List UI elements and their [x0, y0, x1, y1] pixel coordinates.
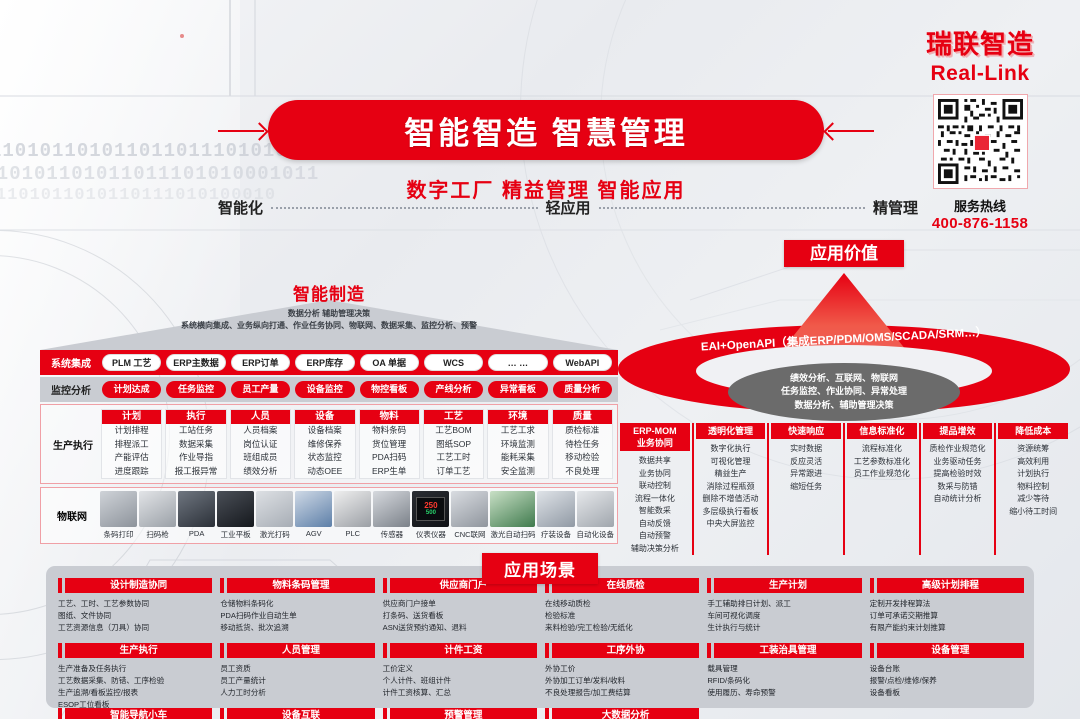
- system-integration-chip[interactable]: WebAPI: [553, 354, 612, 371]
- im-roof-line1: 数据分析 辅助管理决策: [40, 308, 618, 320]
- production-column: 质量质检标准待检任务移动检验不良处理: [552, 409, 613, 479]
- rail-node-0: 智能化: [218, 197, 263, 218]
- hotline-label: 服务热线: [894, 196, 1066, 215]
- scenario-accent-bar: [870, 578, 874, 593]
- value-column-header: 降低成本: [998, 423, 1068, 439]
- iot-item[interactable]: 传感器: [373, 491, 410, 540]
- production-column-header: 质量: [553, 410, 612, 424]
- scenario-card-header: 工序外协: [545, 643, 699, 658]
- value-item: 自动反馈: [620, 518, 690, 531]
- production-column: 计划计划排程排程派工产能评估进度跟踪: [101, 409, 162, 479]
- scenario-item: 打条码、送货看板: [383, 610, 537, 622]
- production-cell[interactable]: 计划排程: [102, 424, 161, 438]
- system-integration-chip[interactable]: ERP库存: [295, 354, 354, 371]
- production-cell[interactable]: 工站任务: [166, 424, 225, 438]
- iot-row: 物联网 条码打印扫码枪PDA工业平板激光打码AGVPLC传感器250500仪表仪…: [40, 487, 618, 544]
- iot-caption: 条码打印: [100, 529, 137, 540]
- core-capability-ellipse: 绩效分析、互联网、物联网 任务监控、作业协同、异常处理 数据分析、辅助管理决策: [728, 363, 960, 421]
- scenario-item: 仓储物料条码化: [220, 598, 374, 610]
- production-column-header: 设备: [295, 410, 354, 424]
- scenario-item: 设备台账: [870, 663, 1024, 675]
- scenario-item: 个人计件、班组计件: [383, 675, 537, 687]
- production-column-header: 计划: [102, 410, 161, 424]
- value-column: 快速响应实时数据反应灵活异常跟进缩短任务: [767, 423, 843, 555]
- production-cell[interactable]: 安全监测: [488, 465, 547, 479]
- scenario-item: 生计执行与统计: [707, 622, 861, 634]
- scenario-card[interactable]: 设计制造协同工艺、工时、工艺参数协同图纸、文件协同工艺资源信息（刀具）协同: [56, 578, 212, 639]
- iot-caption: 扫码枪: [139, 529, 176, 540]
- page-header: 智能智造 智慧管理 数字工厂 精益管理 智能应用: [216, 100, 876, 203]
- iot-caption: 疗装设备: [537, 529, 574, 540]
- scenario-card-header: 预警管理: [383, 708, 537, 719]
- value-column: 透明化管理数字化执行可视化管理精益生产消除过程瓶颈删除不增值活动多层级执行看板中…: [692, 423, 768, 555]
- iot-caption: 工业平板: [217, 529, 254, 540]
- production-cell[interactable]: 动态OEE: [295, 465, 354, 479]
- scenario-accent-bar: [383, 578, 387, 593]
- system-integration-chip[interactable]: PLM 工艺: [102, 354, 161, 371]
- production-cell[interactable]: 状态监控: [295, 451, 354, 465]
- monitoring-row: 监控分析 计划达成任务监控员工产量设备监控物控看板产线分析异常看板质量分析: [40, 377, 618, 402]
- iot-caption: CNC联网: [451, 529, 488, 540]
- monitoring-chip[interactable]: 员工产量: [231, 381, 290, 398]
- scenario-item: 人力工时分析: [220, 687, 374, 699]
- scenario-card-header: 设计制造协同: [58, 578, 212, 593]
- monitoring-chip[interactable]: 产线分析: [424, 381, 483, 398]
- scenarios-panel: 设计制造协同工艺、工时、工艺参数协同图纸、文件协同工艺资源信息（刀具）协同物料条…: [46, 566, 1034, 708]
- agv-icon: [295, 491, 332, 527]
- scenario-accent-bar: [220, 708, 224, 719]
- value-item: 多层级执行看板: [696, 506, 766, 519]
- iot-item[interactable]: AGV: [295, 491, 332, 540]
- scenario-item: 图纸、文件协同: [58, 610, 212, 622]
- scenario-card[interactable]: 工序外协外协工价外协加工订单/发料/收料不良处理报告/加工费结算: [543, 643, 699, 704]
- scenario-card[interactable]: 人员管理员工资质员工产量统计人力工时分析: [218, 643, 374, 704]
- scenario-item: 员工资质: [220, 663, 374, 675]
- production-cell[interactable]: 岗位认证: [231, 438, 290, 452]
- brand-logo-block: 瑞联智造 Real-Link: [894, 24, 1066, 232]
- scenario-accent-bar: [707, 643, 711, 658]
- scenario-item: 工艺数据采集、防错、工序检验: [58, 675, 212, 687]
- monitoring-chip[interactable]: 物控看板: [360, 381, 419, 398]
- value-column: ERP-MOM业务协同数据共享业务协同联动控制流程一体化智能数采自动反馈自动预警…: [618, 423, 692, 555]
- scenario-item: 工艺、工时、工艺参数协同: [58, 598, 212, 610]
- iot-item[interactable]: 激光自动扫码: [490, 491, 535, 540]
- value-item: 提高检验时效: [923, 468, 993, 481]
- scenario-item: 员工产量统计: [220, 675, 374, 687]
- monitoring-chip[interactable]: 设备监控: [295, 381, 354, 398]
- application-value-panel: 应用价值 EAI+OpenAPI（集成ERP/PDM/OMS/SCADA/SRM…: [618, 240, 1070, 555]
- scenario-card-header: 工装治具管理: [707, 643, 861, 658]
- value-item: 缩短任务: [771, 481, 841, 494]
- sensor-icon: [373, 491, 410, 527]
- value-column-header: 提品增效: [923, 423, 993, 439]
- production-column-header: 物料: [360, 410, 419, 424]
- barcode-printer-icon: [100, 491, 137, 527]
- scenario-card[interactable]: 生产执行生产准备及任务执行工艺数据采集、防错、工序检验生产追溯/看板监控/报表E…: [56, 643, 212, 704]
- scenario-item: 来料检验/完工检验/无纸化: [545, 622, 699, 634]
- scenario-item: 设备看板: [870, 687, 1024, 699]
- plc-icon: [334, 491, 371, 527]
- system-integration-row: 系统集成 PLM 工艺ERP主数据ERP订单ERP库存OA 单据WCS… …We…: [40, 350, 618, 375]
- value-item: 质检作业规范化: [923, 443, 993, 456]
- value-item: 高效利用: [998, 456, 1068, 469]
- production-cell[interactable]: 产能评估: [102, 451, 161, 465]
- scenario-item: 不良处理报告/加工费结算: [545, 687, 699, 699]
- qr-code-icon: [938, 99, 1023, 184]
- value-column-header: ERP-MOM业务协同: [620, 423, 690, 451]
- logo-chinese-name: 瑞联智造: [894, 24, 1066, 61]
- production-cell[interactable]: 绩效分析: [231, 465, 290, 479]
- scenario-title: 生产计划: [714, 578, 861, 593]
- monitoring-chip[interactable]: 任务监控: [166, 381, 225, 398]
- scenario-title: 物料条码管理: [227, 578, 374, 593]
- roof-shape: 智能制造 数据分析 辅助管理决策 系统横向集成、业务纵向打通、作业任务协同、物联…: [40, 284, 618, 350]
- system-integration-chip[interactable]: OA 单据: [360, 354, 419, 371]
- value-item: 自动预警: [620, 530, 690, 543]
- value-item: 工艺参数标准化: [847, 456, 917, 469]
- scenario-card-header: 设备互联: [220, 708, 374, 719]
- iot-item[interactable]: 自动化设备: [577, 491, 615, 540]
- scenario-accent-bar: [58, 708, 62, 719]
- iot-item[interactable]: 条码打印: [100, 491, 137, 540]
- iot-caption: PLC: [334, 529, 371, 538]
- scenario-item: 定制开发排程算法: [870, 598, 1024, 610]
- value-item: 数采与防错: [923, 481, 993, 494]
- value-item: 异常跟进: [771, 468, 841, 481]
- value-item: 自动统计分析: [923, 493, 993, 506]
- iot-item[interactable]: 250500仪表仪器: [412, 491, 449, 540]
- iot-item[interactable]: 激光打码: [256, 491, 293, 540]
- scenario-card[interactable]: 智能导航小车AGV自主导航机器人产线定制、载具自动化集中调度: [56, 708, 212, 719]
- scenario-item: 使用履历、寿命预警: [707, 687, 861, 699]
- scenario-item: 工价定义: [383, 663, 537, 675]
- scenario-item: 有限产能约束计划推算: [870, 622, 1024, 634]
- value-item: 数字化执行: [696, 443, 766, 456]
- monitoring-label: 监控分析: [40, 382, 102, 397]
- production-column: 物料物料条码货位管理PDA扫码ERP生单: [359, 409, 420, 479]
- scenario-card[interactable]: 预警管理系统通知邮件通件绑定到手机: [381, 708, 537, 719]
- value-item: 员工作业规范化: [847, 468, 917, 481]
- scenario-title: 设计制造协同: [65, 578, 212, 593]
- scenario-item: 计件工资核算、汇总: [383, 687, 537, 699]
- value-item: 数据共享: [620, 455, 690, 468]
- scenario-accent-bar: [707, 578, 711, 593]
- scenario-accent-bar: [383, 643, 387, 658]
- system-integration-chip[interactable]: ERP主数据: [166, 354, 225, 371]
- production-cell[interactable]: 订单工艺: [424, 465, 483, 479]
- production-cell[interactable]: 环境监测: [488, 438, 547, 452]
- production-cell[interactable]: 待检任务: [553, 438, 612, 452]
- rail-dots-1: [271, 207, 537, 209]
- scenario-item: 载具管理: [707, 663, 861, 675]
- laser-auto-scan-icon: [490, 491, 535, 527]
- value-column: 信息标准化流程标准化工艺参数标准化员工作业规范化: [843, 423, 919, 555]
- scenario-item: 外协工价: [545, 663, 699, 675]
- scenario-accent-bar: [220, 578, 224, 593]
- system-integration-chip[interactable]: ERP订单: [231, 354, 290, 371]
- production-cell[interactable]: 作业导指: [166, 451, 225, 465]
- value-item: 缩小待工时间: [998, 506, 1068, 519]
- scenario-card[interactable]: 设备管理设备台账报警/点检/维修/保养设备看板: [868, 643, 1024, 704]
- production-cell[interactable]: 物料条码: [360, 424, 419, 438]
- iot-label: 物联网: [44, 491, 100, 540]
- barcode-scanner-icon: [139, 491, 176, 527]
- scenario-accent-bar: [58, 578, 62, 593]
- scenario-card[interactable]: 高级计划排程定制开发排程算法订单可承诺交期推算有限产能约束计划推算: [868, 578, 1024, 639]
- production-cell[interactable]: 图纸SOP: [424, 438, 483, 452]
- production-cell[interactable]: 工艺工求: [488, 424, 547, 438]
- value-item: 计划执行: [998, 468, 1068, 481]
- scenario-card-header: 计件工资: [383, 643, 537, 658]
- value-item: 减少等待: [998, 493, 1068, 506]
- value-item: 业务协同: [620, 468, 690, 481]
- scenario-accent-bar: [220, 643, 224, 658]
- production-cell[interactable]: 工艺工时: [424, 451, 483, 465]
- scenario-card-header: 设备管理: [870, 643, 1024, 658]
- value-item: 业务驱动任务: [923, 456, 993, 469]
- iot-caption: 传感器: [373, 529, 410, 540]
- scenario-card-header: 高级计划排程: [870, 578, 1024, 593]
- scenario-card[interactable]: 计件工资工价定义个人计件、班组计件计件工资核算、汇总: [381, 643, 537, 704]
- pill-tail-left: [218, 130, 264, 132]
- instrument-icon: 250500: [412, 491, 449, 527]
- value-item: 辅助决策分析: [620, 543, 690, 556]
- breadcrumb: 智能化 轻应用 精管理: [218, 197, 918, 218]
- value-item: 资源统筹: [998, 443, 1068, 456]
- scenario-accent-bar: [383, 708, 387, 719]
- im-title: 智能制造: [40, 280, 618, 305]
- automation-equipment-icon: [577, 491, 615, 527]
- scenario-card-header: 智能导航小车: [58, 708, 212, 719]
- production-column: 环境工艺工求环境监测能耗采集安全监测: [487, 409, 548, 479]
- laser-marker-icon: [256, 491, 293, 527]
- scenario-card[interactable]: 大数据分析建立数据分析模型跨平台展示电子看板、图表、手机掌上工厂: [543, 708, 699, 719]
- scenario-card[interactable]: 供应商门户供应商门户接单打条码、送货看板ASN送货预约通知、退料: [381, 578, 537, 639]
- scenario-item: PDA扫码作业自动生单: [220, 610, 374, 622]
- monitoring-chip[interactable]: 质量分析: [553, 381, 612, 398]
- value-column-header: 信息标准化: [847, 423, 917, 439]
- iot-caption: 激光打码: [256, 529, 293, 540]
- production-cell[interactable]: 设备档案: [295, 424, 354, 438]
- production-column: 设备设备档案维修保养状态监控动态OEE: [294, 409, 355, 479]
- iot-item[interactable]: PLC: [334, 491, 371, 540]
- production-column-header: 环境: [488, 410, 547, 424]
- iot-item[interactable]: PDA: [178, 491, 215, 540]
- scenario-item: 移动抵货、批次追溯: [220, 622, 374, 634]
- production-cell[interactable]: ERP生单: [360, 465, 419, 479]
- scenario-item: ASN送货预约通知、退料: [383, 622, 537, 634]
- rail-dots-2: [599, 207, 865, 209]
- value-column-header: 透明化管理: [696, 423, 766, 439]
- scenario-accent-bar: [545, 708, 549, 719]
- scenario-item: 生产追溯/看板监控/报表: [58, 687, 212, 699]
- intelligent-manufacturing-panel: 智能制造 数据分析 辅助管理决策 系统横向集成、业务纵向打通、作业任务协同、物联…: [40, 284, 618, 544]
- scenario-item: 供应商门户接单: [383, 598, 537, 610]
- scenario-accent-bar: [58, 643, 62, 658]
- scenario-title: 大数据分析: [552, 708, 699, 719]
- scenario-title: 生产执行: [65, 643, 212, 658]
- logo-english-name: Real-Link: [894, 62, 1066, 86]
- fixture-equipment-icon: [537, 491, 574, 527]
- iot-caption: AGV: [295, 529, 332, 538]
- scenario-item: 外协加工订单/发料/收料: [545, 675, 699, 687]
- monitoring-chip[interactable]: 异常看板: [488, 381, 547, 398]
- scenario-title: 计件工资: [390, 643, 537, 658]
- production-cell[interactable]: 进度跟踪: [102, 465, 161, 479]
- production-cell[interactable]: 班组成员: [231, 451, 290, 465]
- scenario-card-header: 生产计划: [707, 578, 861, 593]
- scenario-card[interactable]: 工装治具管理载具管理RFID/条码化使用履历、寿命预警: [705, 643, 861, 704]
- scenario-item: 手工辅助排日计划、派工: [707, 598, 861, 610]
- production-cell[interactable]: 数据采集: [166, 438, 225, 452]
- production-cell[interactable]: 能耗采集: [488, 451, 547, 465]
- hotline-number: 400-876-1158: [894, 215, 1066, 232]
- core-line-2: 数据分析、辅助管理决策: [781, 399, 907, 412]
- iot-caption: 仪表仪器: [412, 529, 449, 540]
- scenario-title: 设备互联: [227, 708, 374, 719]
- scenario-accent-bar: [545, 643, 549, 658]
- scenario-accent-bar: [870, 643, 874, 658]
- production-column: 执行工站任务数据采集作业导指报工报异常: [165, 409, 226, 479]
- im-roof-line2: 系统横向集成、业务纵向打通、作业任务协同、物联网、数据采集、监控分析、预警: [40, 320, 618, 332]
- production-cell[interactable]: 不良处理: [553, 465, 612, 479]
- value-item: 反应灵活: [771, 456, 841, 469]
- scenario-item: 报警/点检/维修/保养: [870, 675, 1024, 687]
- pill-tail-right: [828, 130, 874, 132]
- scenario-item: 在线移动质检: [545, 598, 699, 610]
- scenario-title: 人员管理: [227, 643, 374, 658]
- production-column: 工艺工艺BOM图纸SOP工艺工时订单工艺: [423, 409, 484, 479]
- page-title: 智能智造 智慧管理: [404, 108, 688, 153]
- value-item: 可视化管理: [696, 456, 766, 469]
- system-integration-chip[interactable]: WCS: [424, 354, 483, 371]
- value-item: 删除不增值活动: [696, 493, 766, 506]
- scenario-item: 生产准备及任务执行: [58, 663, 212, 675]
- production-column-header: 工艺: [424, 410, 483, 424]
- production-cell[interactable]: 质检标准: [553, 424, 612, 438]
- iot-item[interactable]: 工业平板: [217, 491, 254, 540]
- value-column: 提品增效质检作业规范化业务驱动任务提高检验时效数采与防错自动统计分析: [919, 423, 995, 555]
- core-line-1: 任务监控、作业协同、异常处理: [781, 385, 907, 398]
- main-title-pill: 智能智造 智慧管理: [268, 100, 824, 160]
- scenario-card[interactable]: 在线质检在线移动质检检验标准来料检验/完工检验/无纸化: [543, 578, 699, 639]
- core-line-0: 绩效分析、互联网、物联网: [781, 372, 907, 385]
- scenario-item: 订单可承诺交期推算: [870, 610, 1024, 622]
- production-cell[interactable]: 货位管理: [360, 438, 419, 452]
- production-cell[interactable]: 报工报异常: [166, 465, 225, 479]
- production-execution-matrix: 生产执行 计划计划排程排程派工产能评估进度跟踪执行工站任务数据采集作业导指报工报…: [40, 404, 618, 484]
- industrial-tablet-icon: [217, 491, 254, 527]
- scenario-title: 工装治具管理: [714, 643, 861, 658]
- value-item: 流程标准化: [847, 443, 917, 456]
- scenario-item: 检验标准: [545, 610, 699, 622]
- production-cell[interactable]: 移动检验: [553, 451, 612, 465]
- scenario-card[interactable]: 物料条码管理仓储物料条码化PDA扫码作业自动生单移动抵货、批次追溯: [218, 578, 374, 639]
- scenario-card-header: 生产执行: [58, 643, 212, 658]
- application-value-title: 应用价值: [784, 240, 904, 267]
- value-column: 降低成本资源统筹高效利用计划执行物料控制减少等待缩小待工时间: [994, 423, 1070, 555]
- value-item: 中央大屏监控: [696, 518, 766, 531]
- monitoring-chip[interactable]: 计划达成: [102, 381, 161, 398]
- iot-caption: 激光自动扫码: [490, 529, 535, 540]
- scenario-card[interactable]: 生产计划手工辅助排日计划、派工车间可视化调度生计执行与统计: [705, 578, 861, 639]
- scenario-card-header: 大数据分析: [545, 708, 699, 719]
- production-column-header: 执行: [166, 410, 225, 424]
- scenario-title: 智能导航小车: [65, 708, 212, 719]
- production-cell[interactable]: 人员档案: [231, 424, 290, 438]
- system-integration-chip[interactable]: … …: [488, 354, 547, 371]
- value-item: 物料控制: [998, 481, 1068, 494]
- scenario-card-header: 人员管理: [220, 643, 374, 658]
- scenario-title: 预警管理: [390, 708, 537, 719]
- iot-item[interactable]: 疗装设备: [537, 491, 574, 540]
- qr-code[interactable]: [933, 94, 1028, 189]
- rail-node-1: 轻应用: [546, 197, 591, 218]
- iot-item[interactable]: 扫码枪: [139, 491, 176, 540]
- production-column: 人员人员档案岗位认证班组成员绩效分析: [230, 409, 291, 479]
- iot-caption: 自动化设备: [577, 529, 615, 540]
- scenario-item: 工艺资源信息（刀具）协同: [58, 622, 212, 634]
- value-pyramid-graphic: EAI+OpenAPI（集成ERP/PDM/OMS/SCADA/SRM…） 绩效…: [618, 271, 1070, 421]
- iot-item[interactable]: CNC联网: [451, 491, 488, 540]
- production-execution-label: 生产执行: [45, 409, 101, 479]
- scenario-card-header: 物料条码管理: [220, 578, 374, 593]
- scenario-title: 设备管理: [877, 643, 1024, 658]
- iot-caption: PDA: [178, 529, 215, 538]
- scenario-item: RFID/条码化: [707, 675, 861, 687]
- value-item: 实时数据: [771, 443, 841, 456]
- production-cell[interactable]: 排程派工: [102, 438, 161, 452]
- value-item: 智能数采: [620, 505, 690, 518]
- production-column-header: 人员: [231, 410, 290, 424]
- system-integration-label: 系统集成: [40, 355, 102, 370]
- value-item: 消除过程瓶颈: [696, 481, 766, 494]
- scenario-card[interactable]: 设备互联协议 数据采集如: 电压/电阻/温度/湿度…数据监控&分析预警监控: [218, 708, 374, 719]
- scenario-title: 工序外协: [552, 643, 699, 658]
- pda-icon: [178, 491, 215, 527]
- production-cell[interactable]: PDA扫码: [360, 451, 419, 465]
- scenarios-banner: 应用场景: [482, 553, 598, 584]
- production-cell[interactable]: 工艺BOM: [424, 424, 483, 438]
- production-cell[interactable]: 维修保养: [295, 438, 354, 452]
- cnc-network-icon: [451, 491, 488, 527]
- scenario-item: 车间可视化调度: [707, 610, 861, 622]
- value-item: 联动控制: [620, 480, 690, 493]
- scenario-title: 高级计划排程: [877, 578, 1024, 593]
- value-item: 精益生产: [696, 468, 766, 481]
- value-item: 流程一体化: [620, 493, 690, 506]
- value-column-header: 快速响应: [771, 423, 841, 439]
